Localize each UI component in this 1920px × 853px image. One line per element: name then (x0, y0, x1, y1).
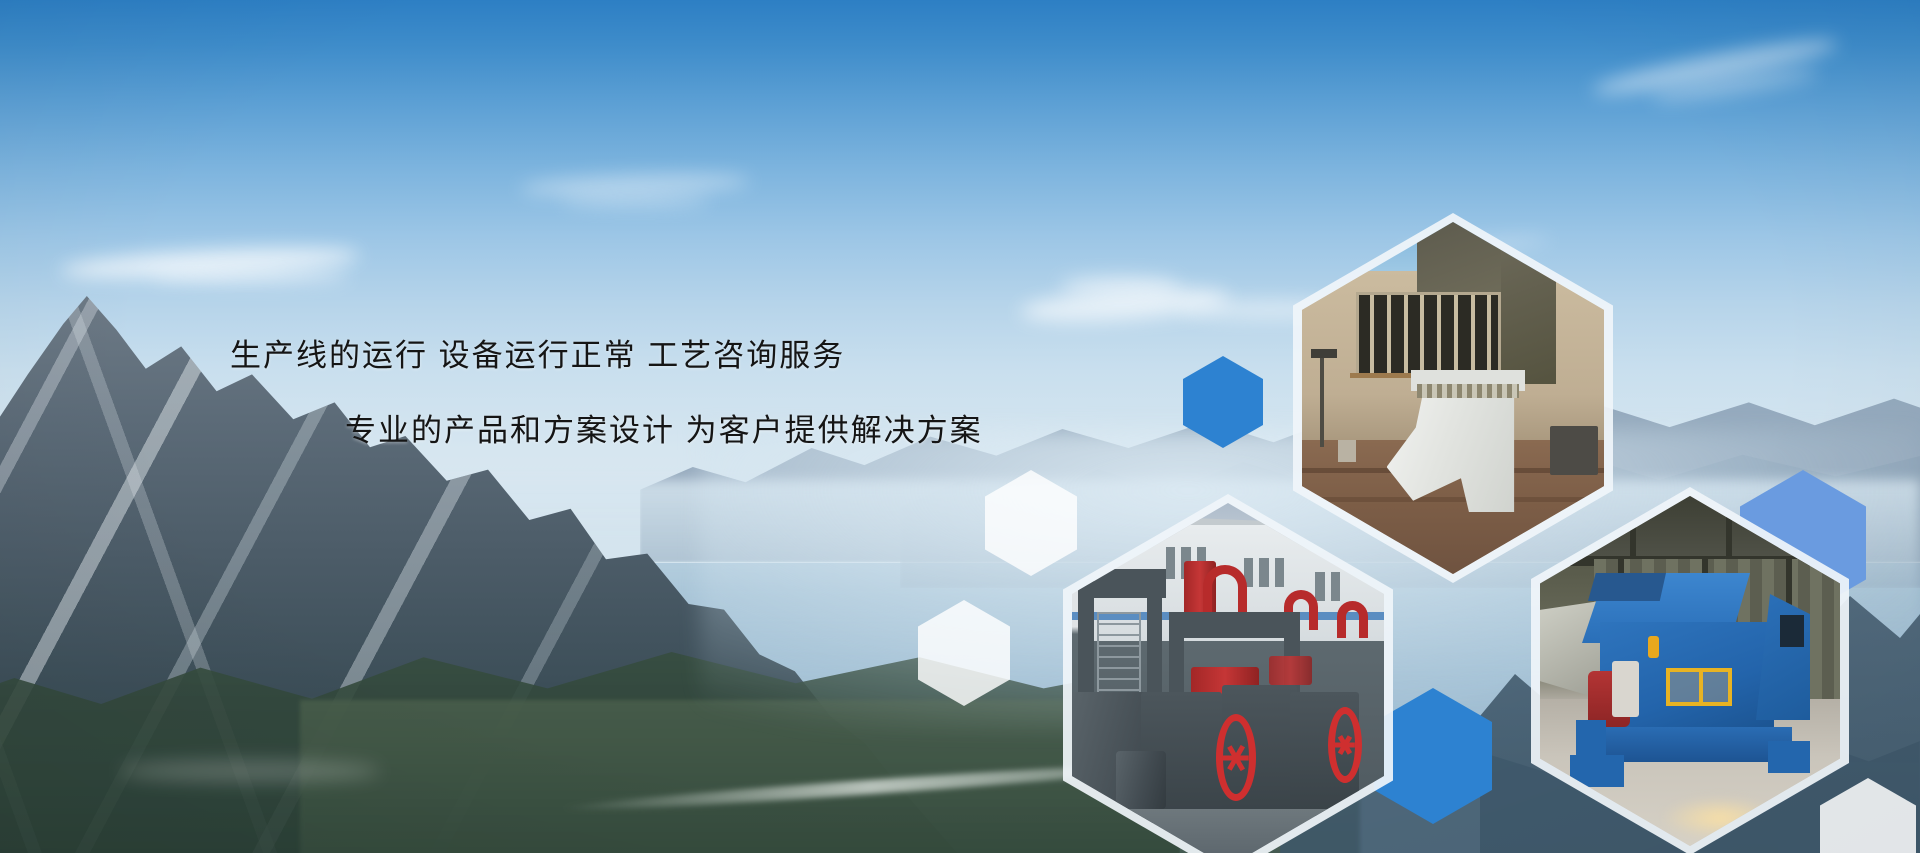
headline-block: 生产线的运行 设备运行正常 工艺咨询服务 专业的产品和方案设计 为客户提供解决方… (0, 330, 1180, 450)
cloud-icon (560, 195, 710, 208)
headline-line-2: 专业的产品和方案设计 为客户提供解决方案 (345, 405, 1180, 450)
product-hex-blue-shredder[interactable] (1531, 487, 1849, 853)
hero-banner: 生产线的运行 设备运行正常 工艺咨询服务 专业的产品和方案设计 为客户提供解决方… (0, 0, 1920, 853)
cloud-icon (150, 268, 350, 284)
cloud-icon (120, 760, 380, 782)
product-hex-grey-machines[interactable] (1063, 494, 1393, 853)
hex-image-grey-machines (1072, 503, 1384, 853)
cloud-icon (1060, 276, 1180, 296)
headline-line-1: 生产线的运行 设备运行正常 工艺咨询服务 (230, 330, 1180, 375)
